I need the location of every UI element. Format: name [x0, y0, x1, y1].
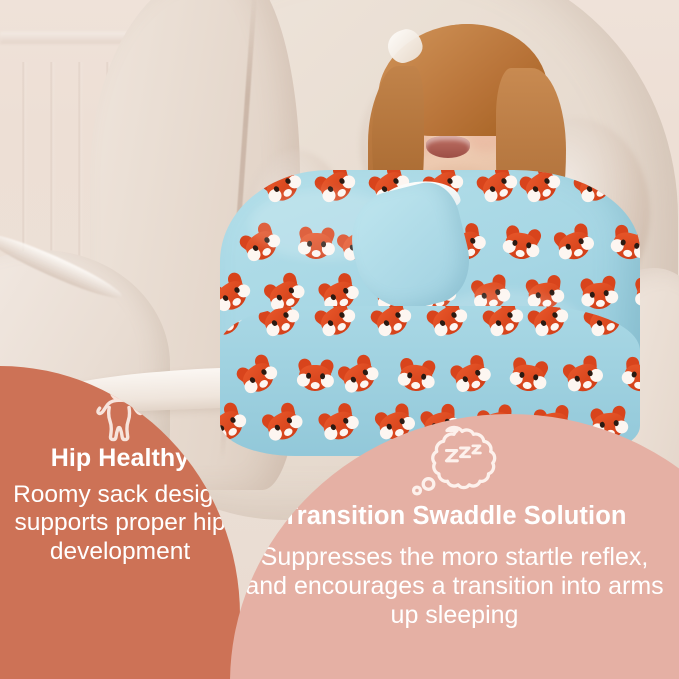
fox-motif: [570, 170, 622, 212]
fox-motif: [498, 226, 543, 266]
fox-motif: [311, 306, 363, 346]
panel-body: Suppresses the moro startle reflex, and …: [230, 543, 679, 630]
baby-body-icon: [0, 380, 240, 442]
fox-motif: [473, 170, 525, 212]
fox-motif: [294, 360, 335, 395]
fox-motif: [616, 357, 640, 400]
fox-motif: [559, 355, 609, 402]
fox-motif: [479, 306, 531, 346]
sleep-cloud-zzz-icon: [230, 424, 679, 498]
feature-panel-transition-swaddle: Transition Swaddle Solution Suppresses t…: [230, 414, 679, 679]
panel-body: Roomy sack design supports proper hip de…: [0, 481, 240, 566]
infographic-canvas: Hip Healthy Roomy sack design supports p…: [0, 0, 679, 679]
fox-motif: [524, 306, 576, 346]
fox-motif: [394, 359, 437, 397]
fox-motif: [233, 353, 285, 404]
fox-motif: [446, 354, 497, 402]
fox-motif: [334, 353, 386, 403]
panel-title: Transition Swaddle Solution: [230, 502, 679, 531]
fox-motif: [516, 170, 568, 212]
fox-motif: [423, 306, 475, 346]
panel-title: Hip Healthy: [0, 444, 240, 472]
fox-motif: [255, 306, 307, 346]
fox-motif: [632, 278, 640, 314]
fox-motif: [580, 306, 632, 346]
fox-motif: [367, 306, 419, 346]
feature-panel-hip-healthy: Hip Healthy Roomy sack design supports p…: [0, 366, 240, 679]
fox-motif: [605, 225, 640, 268]
fox-motif: [550, 223, 600, 270]
fox-motif: [505, 358, 550, 398]
